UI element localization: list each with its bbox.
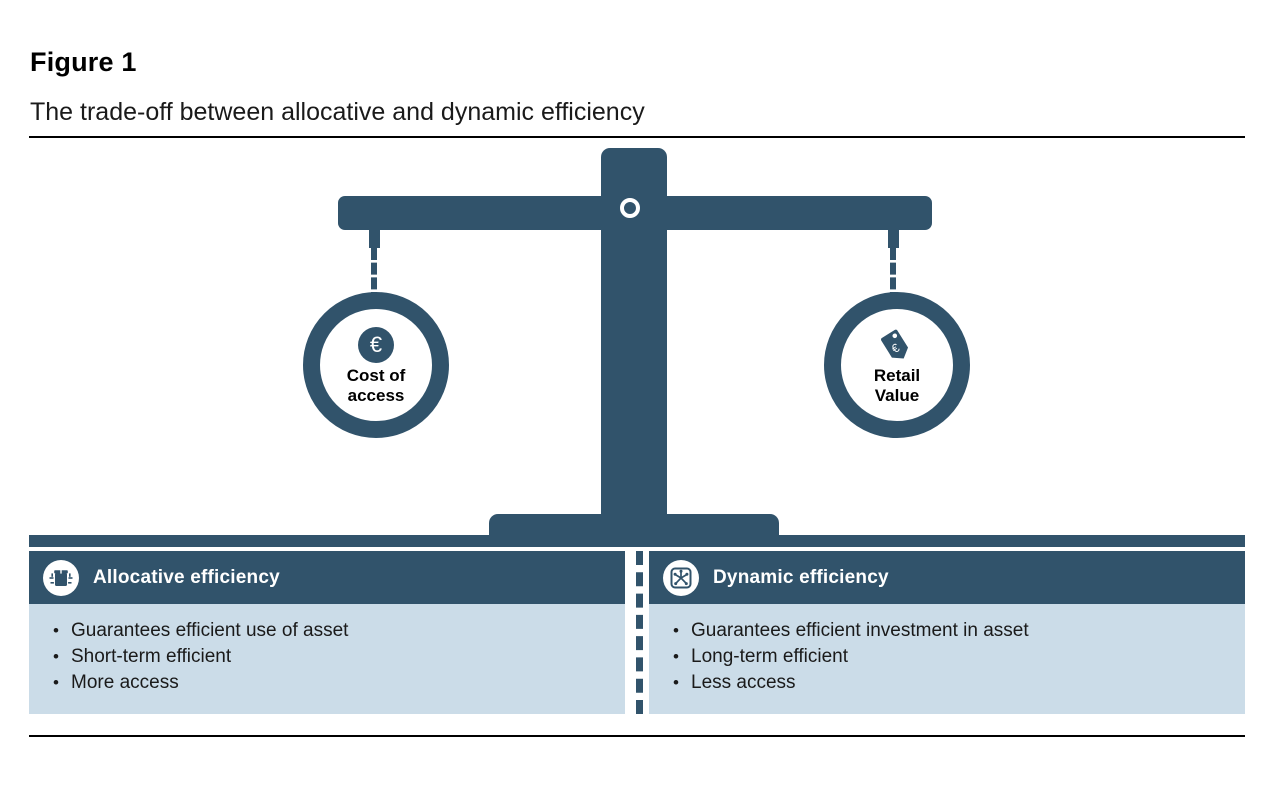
- header-rule: [29, 136, 1245, 138]
- comparison-panels: Allocative efficiency Guarantees efficie…: [29, 551, 1245, 714]
- innovation-starburst-icon: [663, 560, 699, 596]
- panel-header-dynamic: Dynamic efficiency: [649, 551, 1245, 604]
- panel-divider: [636, 551, 643, 714]
- panel-allocative-efficiency: Allocative efficiency Guarantees efficie…: [29, 551, 625, 714]
- panel-title-dynamic: Dynamic efficiency: [713, 567, 889, 589]
- euro-coin-icon: €: [356, 325, 396, 365]
- panel-dynamic-efficiency: Dynamic efficiency Guarantees efficient …: [649, 551, 1245, 714]
- figure-label: Figure 1: [30, 48, 137, 78]
- panel-title-allocative: Allocative efficiency: [93, 567, 280, 589]
- list-item: Guarantees efficient investment in asset: [669, 618, 1245, 644]
- price-tag-icon: €: [877, 325, 917, 365]
- list-item: More access: [49, 670, 625, 696]
- panel-body-allocative: Guarantees efficient use of asset Short-…: [29, 604, 625, 696]
- scale-pan-retail-value: € Retail Value: [824, 292, 970, 438]
- list-item: Short-term efficient: [49, 644, 625, 670]
- bullet-list-dynamic: Guarantees efficient investment in asset…: [669, 618, 1245, 696]
- list-item: Less access: [669, 670, 1245, 696]
- hanger-stub-left: [369, 228, 380, 248]
- figure-container: Figure 1 The trade-off between allocativ…: [0, 0, 1284, 789]
- pivot-circle-icon: [620, 198, 640, 218]
- bullet-list-allocative: Guarantees efficient use of asset Short-…: [49, 618, 625, 696]
- balance-scale-diagram: € Cost of access € Retail Value: [0, 140, 1284, 540]
- hanger-stub-right: [888, 228, 899, 248]
- list-item: Long-term efficient: [669, 644, 1245, 670]
- figure-title: The trade-off between allocative and dyn…: [30, 98, 645, 127]
- list-item: Guarantees efficient use of asset: [49, 618, 625, 644]
- scale-pan-label-right: Retail Value: [874, 366, 920, 405]
- scale-pan-label-left: Cost of access: [347, 366, 406, 405]
- scale-pan-cost-of-access: € Cost of access: [303, 292, 449, 438]
- svg-text:€: €: [370, 332, 382, 357]
- panel-header-allocative: Allocative efficiency: [29, 551, 625, 604]
- package-box-allocation-icon: [43, 560, 79, 596]
- panel-body-dynamic: Guarantees efficient investment in asset…: [649, 604, 1245, 696]
- scale-base-bar: [29, 535, 1245, 547]
- footer-rule: [29, 735, 1245, 737]
